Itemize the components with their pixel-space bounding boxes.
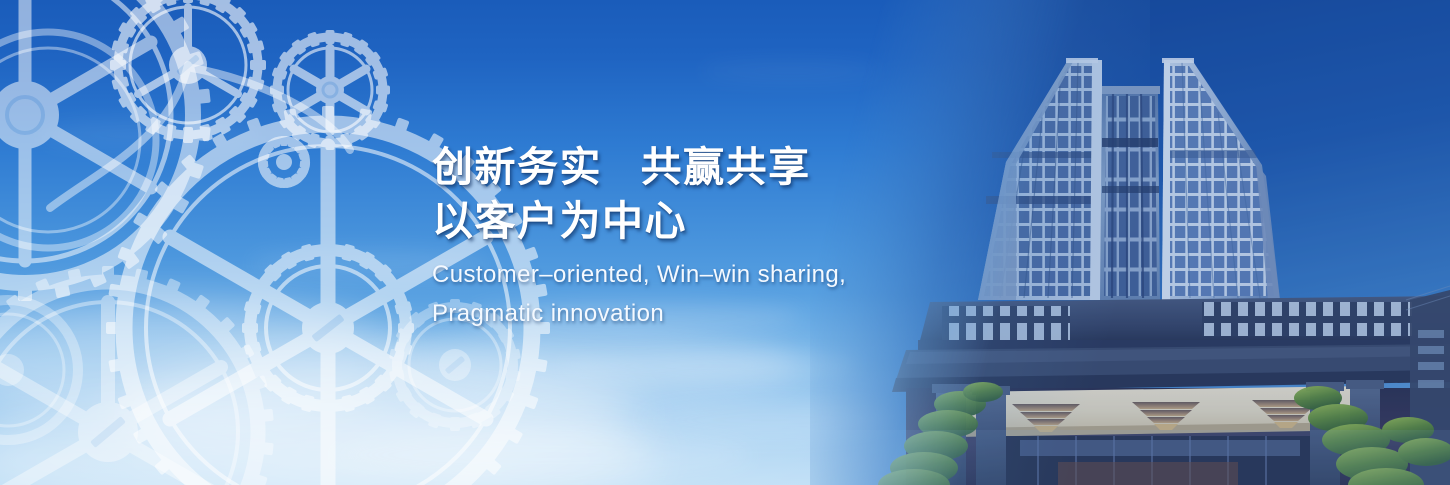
hero-banner: 创新务实 共赢共享 以客户为中心 Customer–oriented, Win–…	[0, 0, 1450, 485]
office-tower-photo	[810, 0, 1450, 485]
subhead-en-line1: Customer–oriented, Win–win sharing,	[432, 256, 846, 295]
subhead-en-line2: Pragmatic innovation	[432, 295, 846, 334]
headline-cn-line1: 创新务实 共赢共享	[432, 140, 846, 194]
banner-copy: 创新务实 共赢共享 以客户为中心 Customer–oriented, Win–…	[432, 140, 846, 334]
headline-cn-line2: 以客户为中心	[432, 194, 846, 248]
